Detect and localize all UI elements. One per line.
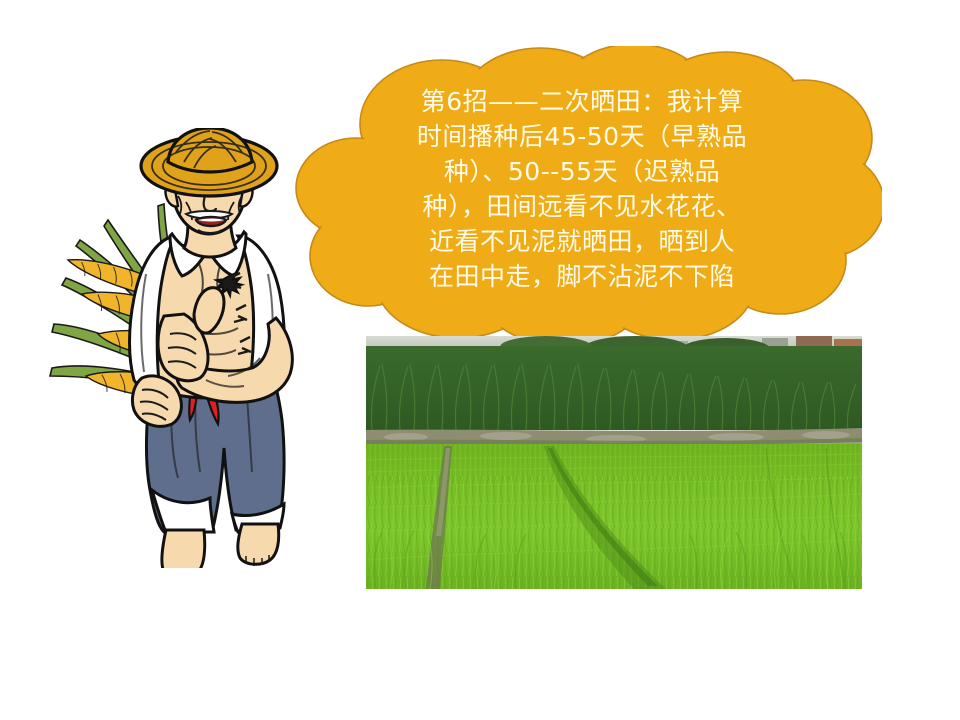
rice-paddy-photo [366,336,862,589]
farmer-feet [162,524,279,568]
cloud-shape [282,46,882,336]
thought-cloud: 第6招——二次晒田：我计算 时间播种后45-50天（早熟品 种）、50--55天… [282,46,882,336]
slide-canvas: 第6招——二次晒田：我计算 时间播种后45-50天（早熟品 种）、50--55天… [0,0,960,720]
straw-hat [141,128,277,196]
